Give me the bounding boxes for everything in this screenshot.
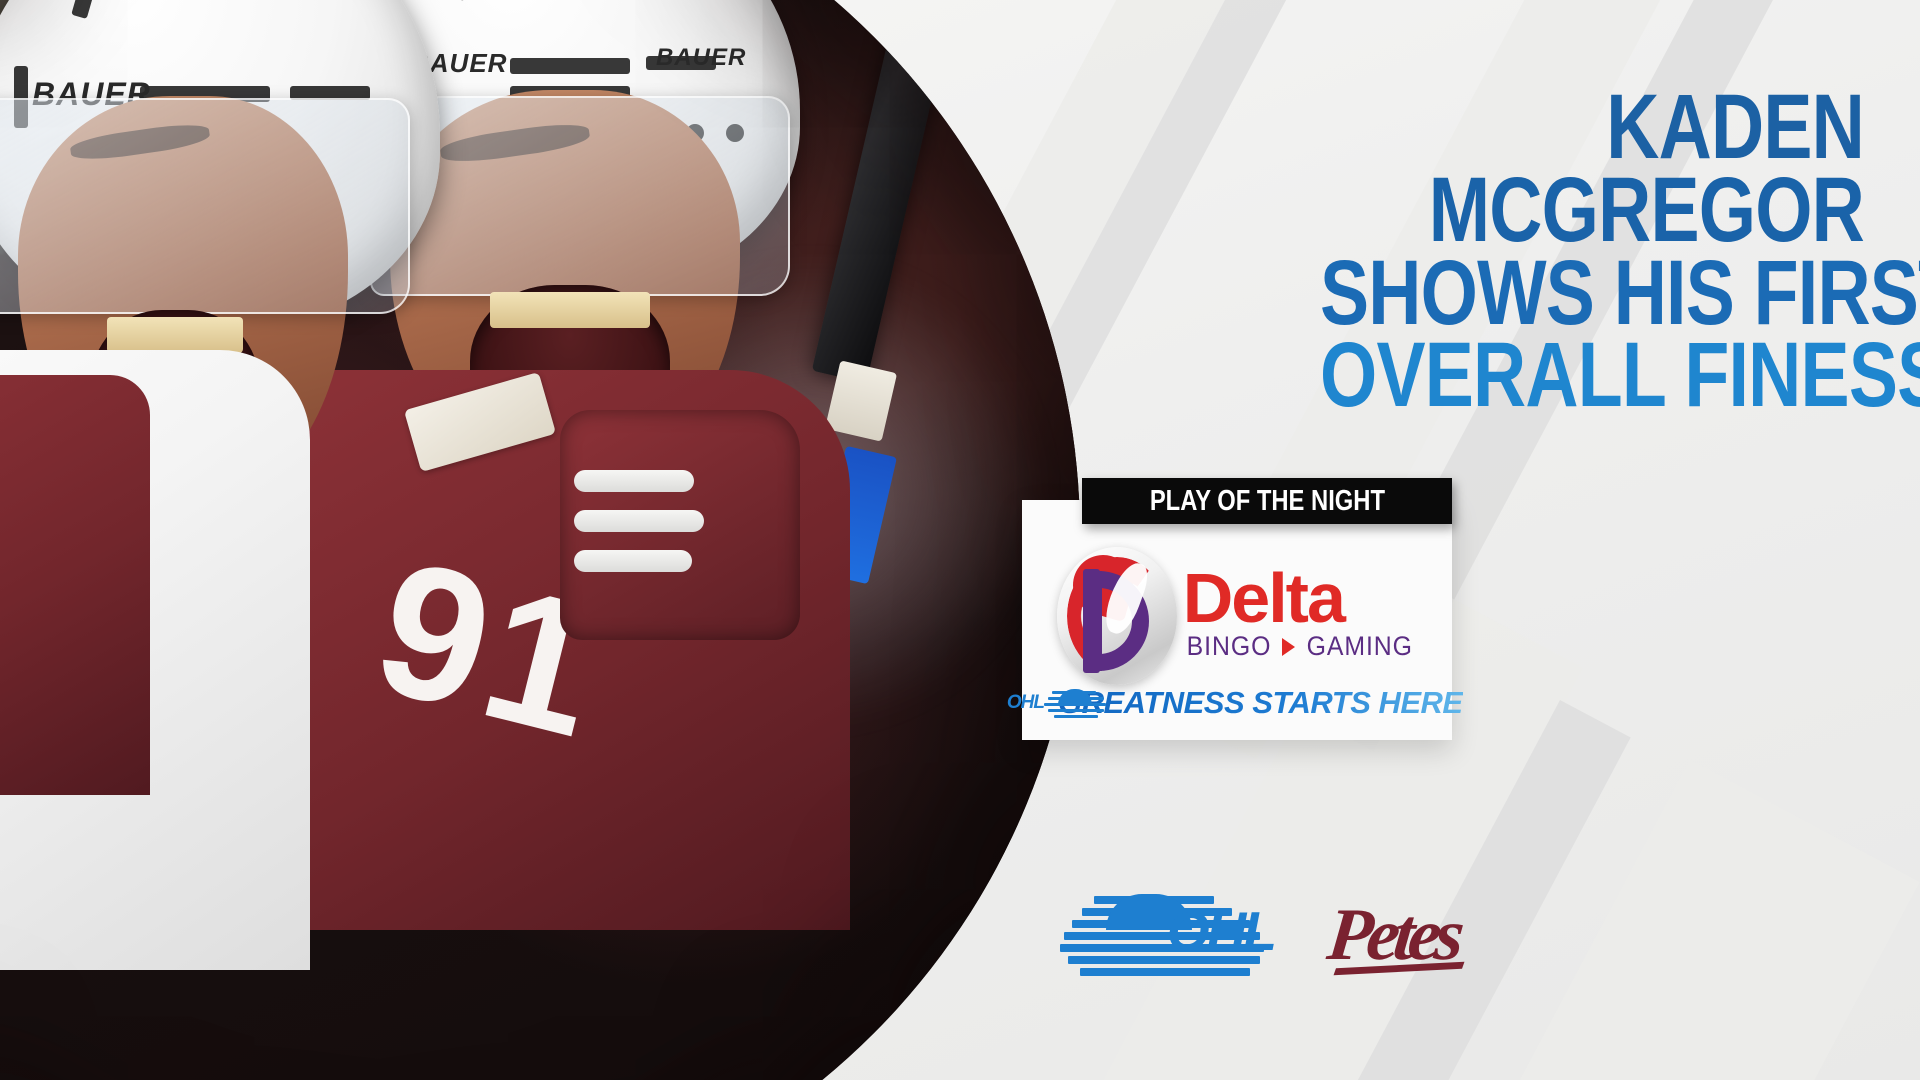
ohl-tagline-row: OHL GREATNESS STARTS HERE bbox=[1044, 682, 1430, 724]
play-of-the-night-label: PLAY OF THE NIGHT bbox=[1149, 485, 1384, 518]
jersey-left-shoulder bbox=[0, 375, 150, 795]
helmet-vent bbox=[510, 58, 630, 74]
delta-sub-gaming: GAMING bbox=[1306, 631, 1412, 662]
glove-finger bbox=[574, 470, 694, 492]
delta-brand-name: Delta bbox=[1183, 570, 1344, 627]
bottom-logo-row: OHL Petes bbox=[1060, 880, 1480, 1000]
delta-wordmark: Delta BINGO GAMING bbox=[1183, 570, 1418, 662]
delta-sub-triangle-icon bbox=[1282, 638, 1295, 656]
helmet-vent bbox=[71, 0, 105, 19]
helmet-vent bbox=[449, 0, 483, 1]
glove-finger bbox=[574, 510, 704, 532]
helmet-brand-right-2: BAUER bbox=[656, 44, 746, 72]
headline-line-2: MCGREGOR bbox=[1320, 169, 1864, 252]
petes-logo-icon: Petes bbox=[1328, 892, 1478, 988]
player-photo: BAUER BAUER BAUER 82 91 bbox=[0, 0, 1080, 1080]
glove-right bbox=[560, 410, 800, 640]
headline-line-4: OVERALL FINESSE! bbox=[1320, 334, 1864, 417]
delta-brand-subtitle: BINGO GAMING bbox=[1183, 631, 1418, 662]
ohl-tagline: GREATNESS STARTS HERE bbox=[1058, 685, 1463, 721]
headline: KADEN MCGREGOR SHOWS HIS FIRST OVERALL F… bbox=[1184, 86, 1864, 417]
photo-inner: BAUER BAUER BAUER 82 91 bbox=[0, 0, 1080, 1080]
headline-line-1: KADEN bbox=[1320, 86, 1864, 169]
delta-emblem-icon bbox=[1057, 547, 1177, 685]
ohl-logo-icon: OHL bbox=[1060, 892, 1272, 988]
petes-wordmark: Petes bbox=[1324, 898, 1462, 972]
delta-sub-bingo: BINGO bbox=[1186, 631, 1271, 662]
play-of-the-night-banner: PLAY OF THE NIGHT bbox=[1082, 478, 1452, 524]
sponsor-card: PLAY OF THE NIGHT Delta BINGO GAMING bbox=[1022, 500, 1452, 740]
delta-logo: Delta BINGO GAMING bbox=[1022, 546, 1452, 686]
headline-line-3: SHOWS HIS FIRST bbox=[1320, 252, 1864, 335]
glove-finger bbox=[574, 550, 692, 572]
